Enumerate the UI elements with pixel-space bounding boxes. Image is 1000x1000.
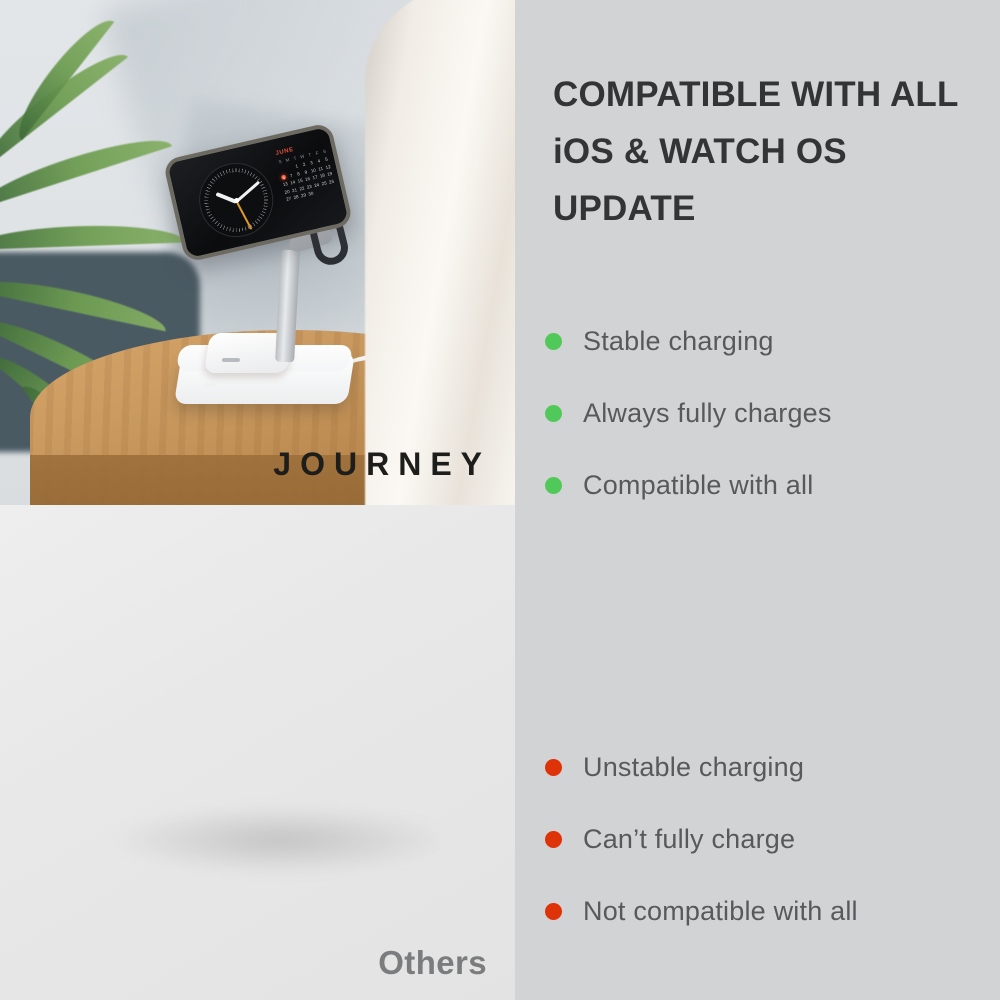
calendar-date-cell — [323, 188, 329, 194]
calendar-date-cell — [286, 165, 292, 171]
calendar-day-initial: S — [277, 159, 283, 165]
calendar-date-cell: 16 — [305, 176, 311, 182]
others-label: Others — [378, 944, 487, 982]
pro-item: Always fully charges — [545, 377, 995, 449]
calendar-day-initial: T — [292, 155, 298, 161]
pro-label: Always fully charges — [583, 398, 832, 429]
calendar-day-initial: W — [299, 154, 305, 160]
calendar-date-cell: 9 — [303, 169, 309, 175]
pro-bullet-icon — [545, 405, 562, 422]
calendar-date-cell: 12 — [325, 164, 331, 170]
journey-brand-logo: JOURNEY — [273, 446, 491, 483]
calendar-date-cell: 6 — [281, 174, 287, 180]
calendar-date-cell: 17 — [312, 174, 318, 180]
pro-bullet-icon — [545, 477, 562, 494]
pro-bullet-icon — [545, 333, 562, 350]
con-item: Not compatible with all — [545, 875, 995, 947]
calendar-date-cell: 22 — [299, 185, 305, 191]
calendar-date-cell: 27 — [286, 196, 292, 202]
con-label: Can’t fully charge — [583, 824, 795, 855]
calendar-date-cell — [330, 186, 336, 192]
pro-label: Compatible with all — [583, 470, 813, 501]
charger-led — [204, 383, 217, 387]
calendar-date-cell: 2 — [301, 161, 307, 167]
calendar-date-cell: 26 — [328, 178, 334, 184]
calendar-date-cell — [279, 167, 285, 173]
pro-label: Stable charging — [583, 326, 774, 357]
calendar-date-cell: 19 — [327, 171, 333, 177]
calendar-date-cell: 4 — [316, 158, 322, 164]
info-panel: COMPATIBLE WITH ALL iOS & WATCH OS UPDAT… — [515, 0, 1000, 1000]
calendar-day-initial: T — [307, 152, 313, 158]
clock-widget — [192, 156, 281, 245]
con-bullet-icon — [545, 903, 562, 920]
journey-product-photo: JUNE SMTWTFS 123456789101112131415161718… — [0, 0, 515, 505]
calendar-date-cell: 25 — [321, 180, 327, 186]
calendar-date-cell: 18 — [319, 173, 325, 179]
calendar-date-cell: 21 — [291, 187, 297, 193]
airpods-case-slot — [222, 358, 240, 362]
calendar-date-cell: 5 — [323, 156, 329, 162]
calendar-widget: JUNE SMTWTFS 123456789101112131415161718… — [275, 138, 347, 227]
calendar-date-cell: 28 — [293, 194, 299, 200]
cons-list: Unstable chargingCan’t fully chargeNot c… — [545, 731, 995, 947]
con-item: Can’t fully charge — [545, 803, 995, 875]
calendar-date-cell: 8 — [295, 171, 301, 177]
con-bullet-icon — [545, 831, 562, 848]
con-label: Not compatible with all — [583, 896, 858, 927]
calendar-date-cell: 30 — [308, 191, 314, 197]
con-label: Unstable charging — [583, 752, 804, 783]
calendar-day-initial: M — [285, 157, 291, 163]
calendar-date-cell: 24 — [314, 182, 320, 188]
calendar-date-cell: 7 — [288, 172, 294, 178]
calendar-day-initial: S — [322, 148, 328, 154]
con-bullet-icon — [545, 759, 562, 776]
pro-item: Stable charging — [545, 305, 995, 377]
page-title: COMPATIBLE WITH ALL iOS & WATCH OS UPDAT… — [553, 66, 983, 237]
calendar-day-initial: F — [314, 150, 320, 156]
others-product-photo: Others — [0, 505, 515, 1000]
calendar-date-cell: 29 — [301, 193, 307, 199]
calendar-date-cell: 23 — [306, 184, 312, 190]
pro-item: Compatible with all — [545, 449, 995, 521]
calendar-date-cell: 15 — [297, 178, 303, 184]
calendar-date-cell — [315, 189, 321, 195]
pros-list: Stable chargingAlways fully chargesCompa… — [545, 305, 995, 521]
product-shadow — [110, 805, 450, 875]
calendar-date-cell: 11 — [318, 165, 324, 171]
calendar-date-cell: 13 — [282, 181, 288, 187]
infographic-page: JUNE SMTWTFS 123456789101112131415161718… — [0, 0, 1000, 1000]
con-item: Unstable charging — [545, 731, 995, 803]
calendar-date-cell: 1 — [294, 163, 300, 169]
window-curtain — [365, 0, 515, 505]
calendar-date-cell: 3 — [309, 160, 315, 166]
calendar-date-cell: 20 — [284, 189, 290, 195]
calendar-date-cell: 14 — [290, 180, 296, 186]
calendar-date-cell: 10 — [310, 167, 316, 173]
